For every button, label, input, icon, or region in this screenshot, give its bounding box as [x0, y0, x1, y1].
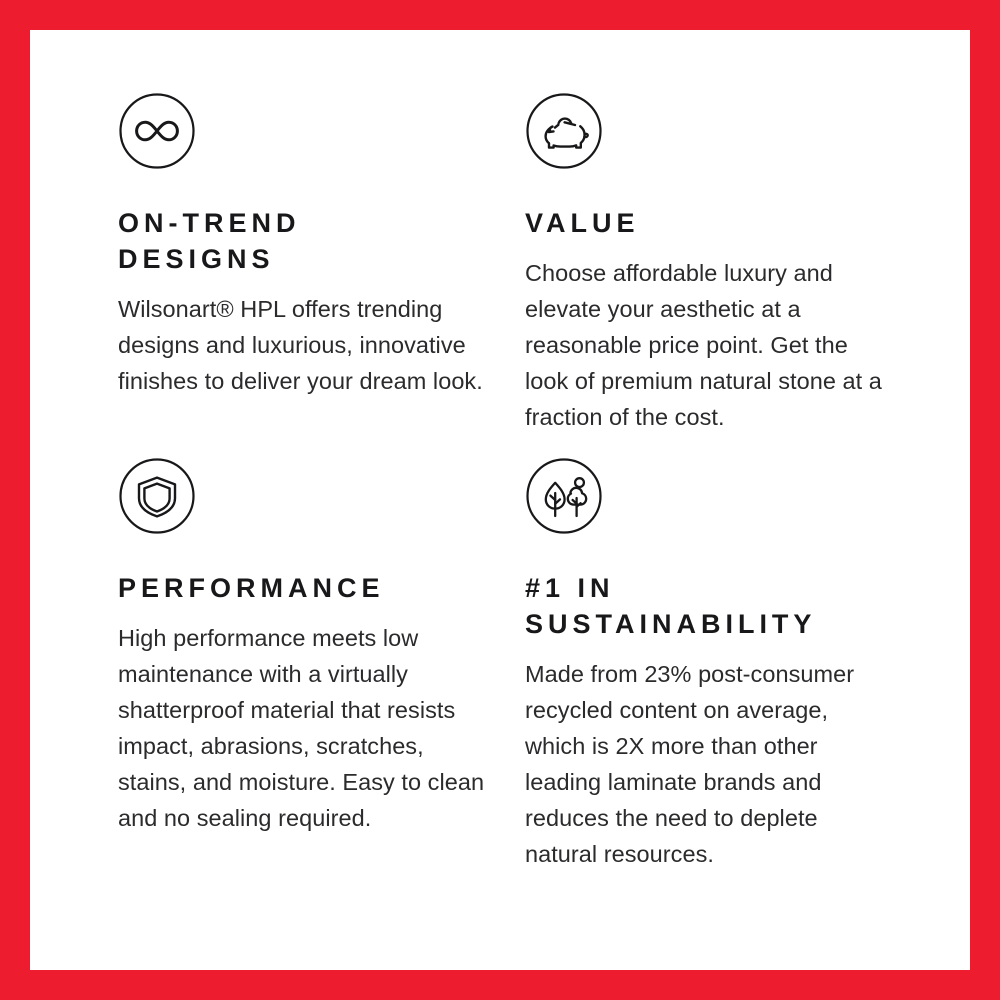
- content-card: ON-TREND DESIGNS Wilsonart® HPL offers t…: [30, 30, 970, 970]
- feature-title: ON-TREND DESIGNS: [118, 206, 523, 278]
- trees-icon: [525, 457, 603, 535]
- piggy-bank-icon: [525, 92, 603, 170]
- feature-value: VALUE Choose affordable luxury and eleva…: [523, 92, 902, 435]
- feature-body: Made from 23% post-consumer recycled con…: [525, 656, 885, 872]
- feature-grid: ON-TREND DESIGNS Wilsonart® HPL offers t…: [118, 92, 902, 872]
- feature-title: #1 IN SUSTAINABILITY: [525, 571, 902, 643]
- feature-body: Wilsonart® HPL offers trending designs a…: [118, 291, 488, 399]
- feature-performance: PERFORMANCE High performance meets low m…: [118, 435, 523, 872]
- feature-on-trend-designs: ON-TREND DESIGNS Wilsonart® HPL offers t…: [118, 92, 523, 435]
- feature-sustainability: #1 IN SUSTAINABILITY Made from 23% post-…: [523, 435, 902, 872]
- feature-title: VALUE: [525, 206, 902, 242]
- feature-body: Choose affordable luxury and elevate you…: [525, 255, 885, 435]
- shield-icon: [118, 457, 196, 535]
- feature-title: PERFORMANCE: [118, 571, 523, 607]
- red-border-frame: ON-TREND DESIGNS Wilsonart® HPL offers t…: [0, 0, 1000, 1000]
- infinity-icon: [118, 92, 196, 170]
- feature-body: High performance meets low maintenance w…: [118, 620, 490, 836]
